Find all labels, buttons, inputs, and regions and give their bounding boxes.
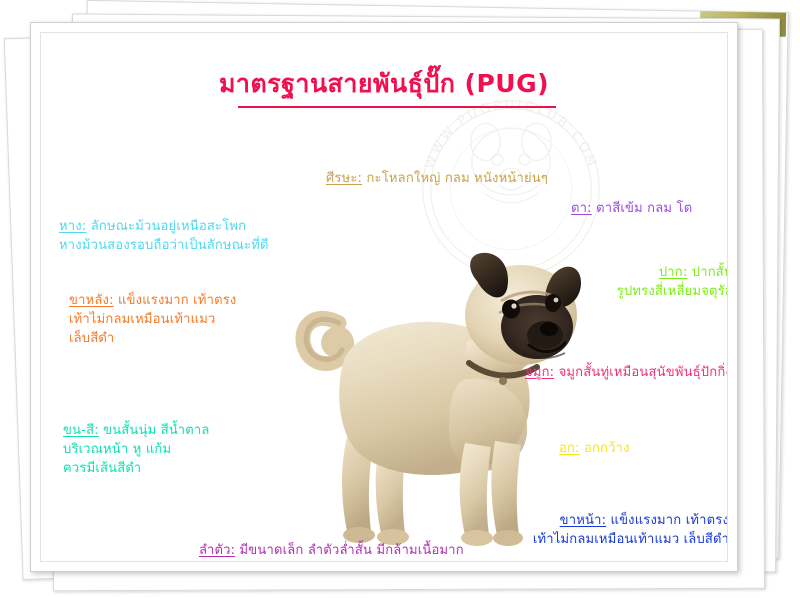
- annotation-eye-line: ตา: ตาสีเข้ม กลม โต: [571, 199, 728, 218]
- annotation-body-heading: ลำตัว:: [199, 543, 235, 558]
- annotation-coat-color-line: ควรมีเส้นสีดำ: [63, 459, 293, 478]
- annotation-mouth-text: ปากสั้น: [687, 265, 728, 280]
- annotation-eye-text: ตาสีเข้ม กลม โต: [592, 201, 693, 216]
- annotation-front-leg-heading: ขาหน้า:: [560, 513, 607, 528]
- annotation-mouth-heading: ปาก:: [659, 265, 688, 280]
- poster-card: WWW.PUGPUIGLUB.COM มาตรฐานสายพันธุ์ปั๊ก …: [30, 22, 738, 572]
- annotation-coat-color: ขน-สี: ขนสั้นนุ่ม สีน้ำตาลบริเวณหน้า หู …: [63, 421, 293, 478]
- annotation-coat-color-text: ขนสั้นนุ่ม สีน้ำตาล: [99, 423, 210, 438]
- poster-stage: WWW.PUGPUIGLUB.COM มาตรฐานสายพันธุ์ปั๊ก …: [0, 0, 800, 598]
- annotation-head-line: ศีรษะ: กะโหลกใหญ่ กลม หนังหน้าย่นๆ: [287, 169, 587, 188]
- annotation-body-text: มีขนาดเล็ก ลำตัวล่ำสั้น มีกล้ามเนื้อมาก: [235, 543, 464, 558]
- annotation-chest-heading: อก:: [559, 441, 580, 456]
- annotation-nose-line: จมูก: จมูกสั้นทู่เหมือนสุนัขพันธุ์ปักกิ่…: [525, 363, 728, 382]
- annotation-hind-leg-text: แข็งแรงมาก เท้าตรง: [114, 293, 237, 308]
- annotation-hind-leg-line: เท้าไม่กลมเหมือนเท้าแมว: [69, 310, 289, 329]
- annotation-tail-heading: หาง:: [59, 219, 86, 234]
- annotation-chest: อก: อกกว้าง: [559, 439, 728, 458]
- annotation-coat-color-line: ขน-สี: ขนสั้นนุ่ม สีน้ำตาล: [63, 421, 293, 440]
- annotation-hind-leg-line: เล็บสีดำ: [69, 329, 289, 348]
- annotation-nose-text: จมูกสั้นทู่เหมือนสุนัขพันธุ์ปักกิ่ง: [554, 365, 728, 380]
- annotation-head-heading: ศีรษะ:: [326, 171, 362, 186]
- annotation-mouth-line: รูปทรงสี่เหลี่ยมจตุรัส: [471, 282, 728, 301]
- annotation-mouth: ปาก: ปากสั้นรูปทรงสี่เหลี่ยมจตุรัส: [471, 263, 728, 301]
- annotation-head-text: กะโหลกใหญ่ กลม หนังหน้าย่นๆ: [362, 171, 548, 186]
- poster-card-inner-border: WWW.PUGPUIGLUB.COM มาตรฐานสายพันธุ์ปั๊ก …: [40, 32, 728, 562]
- page-title: มาตรฐานสายพันธุ์ปั๊ก (PUG): [41, 68, 727, 100]
- annotation-front-leg-text: แข็งแรงมาก เท้าตรง: [606, 513, 728, 528]
- annotation-hind-leg-heading: ขาหลัง:: [69, 293, 114, 308]
- annotation-chest-line: อก: อกกว้าง: [559, 439, 728, 458]
- annotation-coat-color-line: บริเวณหน้า หู แก้ม: [63, 440, 293, 459]
- page-title-underline: [238, 106, 556, 108]
- watermark-arc-text: WWW.PUGPUIGLUB.COM: [422, 98, 599, 171]
- annotation-hind-leg-line: ขาหลัง: แข็งแรงมาก เท้าตรง: [69, 291, 289, 310]
- annotation-coat-color-heading: ขน-สี:: [63, 423, 99, 438]
- annotation-eye: ตา: ตาสีเข้ม กลม โต: [571, 199, 728, 218]
- annotation-mouth-line: ปาก: ปากสั้น: [471, 263, 728, 282]
- annotation-body: ลำตัว: มีขนาดเล็ก ลำตัวล่ำสั้น มีกล้ามเน…: [199, 541, 529, 560]
- annotation-tail: หาง: ลักษณะม้วนอยู่เหนือสะโพกหางม้วนสองร…: [59, 217, 339, 255]
- annotation-tail-line: หาง: ลักษณะม้วนอยู่เหนือสะโพก: [59, 217, 339, 236]
- annotation-nose: จมูก: จมูกสั้นทู่เหมือนสุนัขพันธุ์ปักกิ่…: [525, 363, 728, 382]
- annotation-body-line: ลำตัว: มีขนาดเล็ก ลำตัวล่ำสั้น มีกล้ามเน…: [199, 541, 529, 560]
- annotation-nose-heading: จมูก:: [525, 365, 554, 380]
- annotation-front-leg-line: ขาหน้า: แข็งแรงมาก เท้าตรง: [461, 511, 728, 530]
- annotation-head: ศีรษะ: กะโหลกใหญ่ กลม หนังหน้าย่นๆ: [287, 169, 587, 188]
- annotation-eye-heading: ตา:: [571, 201, 592, 216]
- annotation-chest-text: อกกว้าง: [580, 441, 630, 456]
- annotation-tail-line: หางม้วนสองรอบถือว่าเป็นลักษณะที่ดี: [59, 236, 339, 255]
- annotation-hind-leg: ขาหลัง: แข็งแรงมาก เท้าตรงเท้าไม่กลมเหมื…: [69, 291, 289, 348]
- annotation-tail-text: ลักษณะม้วนอยู่เหนือสะโพก: [86, 219, 246, 234]
